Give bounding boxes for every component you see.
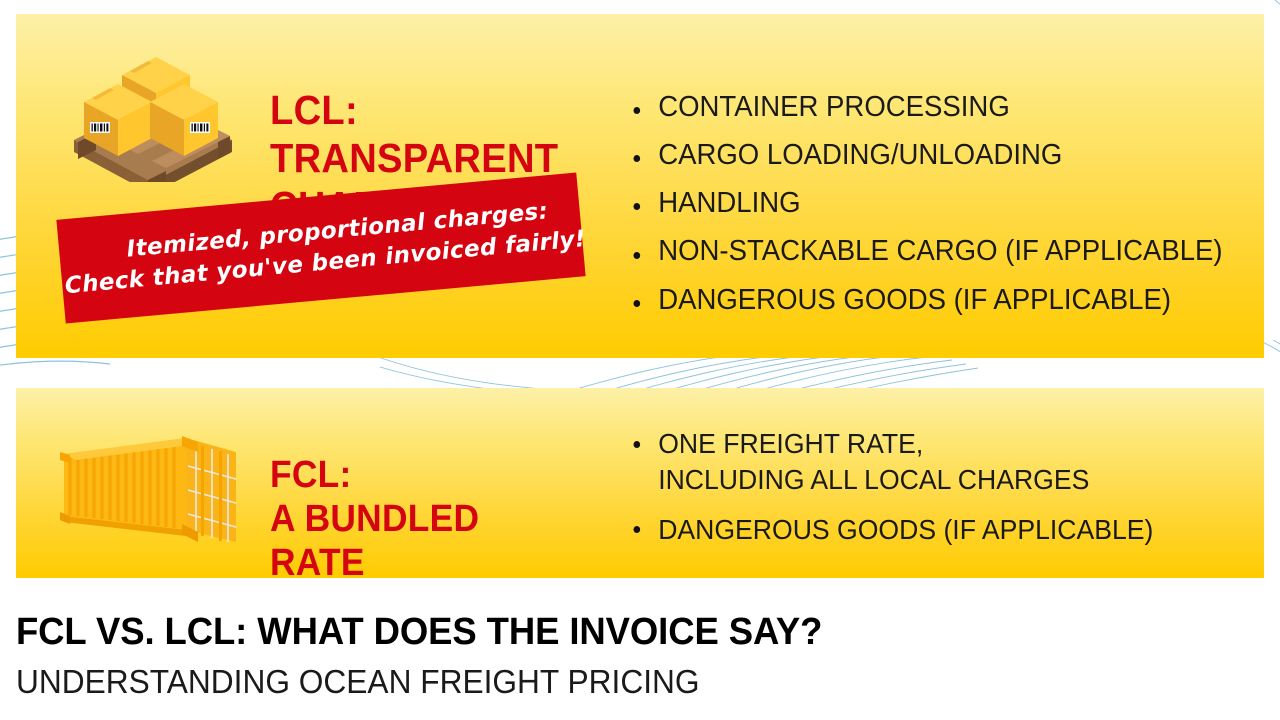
panel-fcl-heading-line-2: A BUNDLED <box>270 500 479 538</box>
page-title: FCL VS. LCL: WHAT DOES THE INVOICE SAY? <box>16 612 1214 653</box>
caption-block: FCL VS. LCL: WHAT DOES THE INVOICE SAY? … <box>16 612 1264 702</box>
panel-lcl: LCL: TRANSPARENT CHARGES CONTAINER PROCE… <box>16 14 1264 358</box>
list-item: ONE FREIGHT RATE, INCLUDING ALL LOCAL CH… <box>624 426 1153 499</box>
panel-fcl-bullet-list: ONE FREIGHT RATE, INCLUDING ALL LOCAL CH… <box>624 426 1181 561</box>
callout-ribbon: Itemized, proportional charges: Check th… <box>56 173 585 324</box>
infographic-stage: LCL: TRANSPARENT CHARGES CONTAINER PROCE… <box>0 0 1280 720</box>
panel-lcl-heading-line-2: TRANSPARENT <box>270 138 558 179</box>
page-subtitle: UNDERSTANDING OCEAN FREIGHT PRICING <box>16 662 1214 702</box>
panel-fcl: FCL: A BUNDLED RATE ONE FREIGHT RATE, IN… <box>16 388 1264 578</box>
pallet-boxes-icon <box>52 32 252 182</box>
panel-lcl-bullet-list: CONTAINER PROCESSING CARGO LOADING/UNLOA… <box>624 92 1254 333</box>
panel-fcl-heading-line-1: FCL: <box>270 456 479 494</box>
list-item: DANGEROUS GOODS (IF APPLICABLE) <box>624 285 1223 315</box>
list-item: CONTAINER PROCESSING <box>624 92 1223 122</box>
list-item: CARGO LOADING/UNLOADING <box>624 140 1223 170</box>
panel-fcl-heading: FCL: A BUNDLED RATE <box>270 456 479 578</box>
panel-fcl-heading-line-3: RATE <box>270 544 479 578</box>
list-item: DANGEROUS GOODS (IF APPLICABLE) <box>624 512 1153 548</box>
list-item: HANDLING <box>624 188 1223 218</box>
list-item: NON-STACKABLE CARGO (IF APPLICABLE) <box>624 236 1223 266</box>
panel-lcl-heading-line-1: LCL: <box>270 90 558 131</box>
shipping-container-icon <box>46 418 256 548</box>
